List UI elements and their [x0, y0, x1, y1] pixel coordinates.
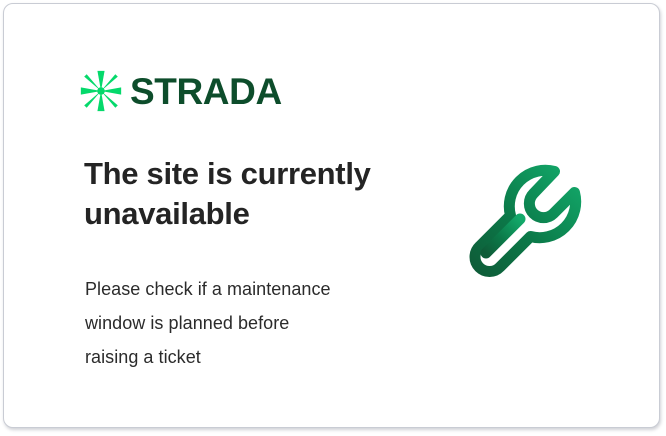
brand-logo: STRADA: [80, 70, 282, 112]
page-description: Please check if a maintenance window is …: [85, 272, 405, 374]
description-line: Please check if a maintenance: [85, 272, 405, 306]
brand-wordmark: STRADA: [130, 73, 282, 110]
wrench-icon: [459, 156, 619, 316]
description-line: raising a ticket: [85, 340, 405, 374]
asterisk-starburst-icon: [80, 70, 122, 112]
description-line: window is planned before: [85, 306, 405, 340]
status-card: STRADA The site is currently unavailable…: [3, 3, 660, 428]
page-title: The site is currently unavailable: [84, 154, 434, 234]
